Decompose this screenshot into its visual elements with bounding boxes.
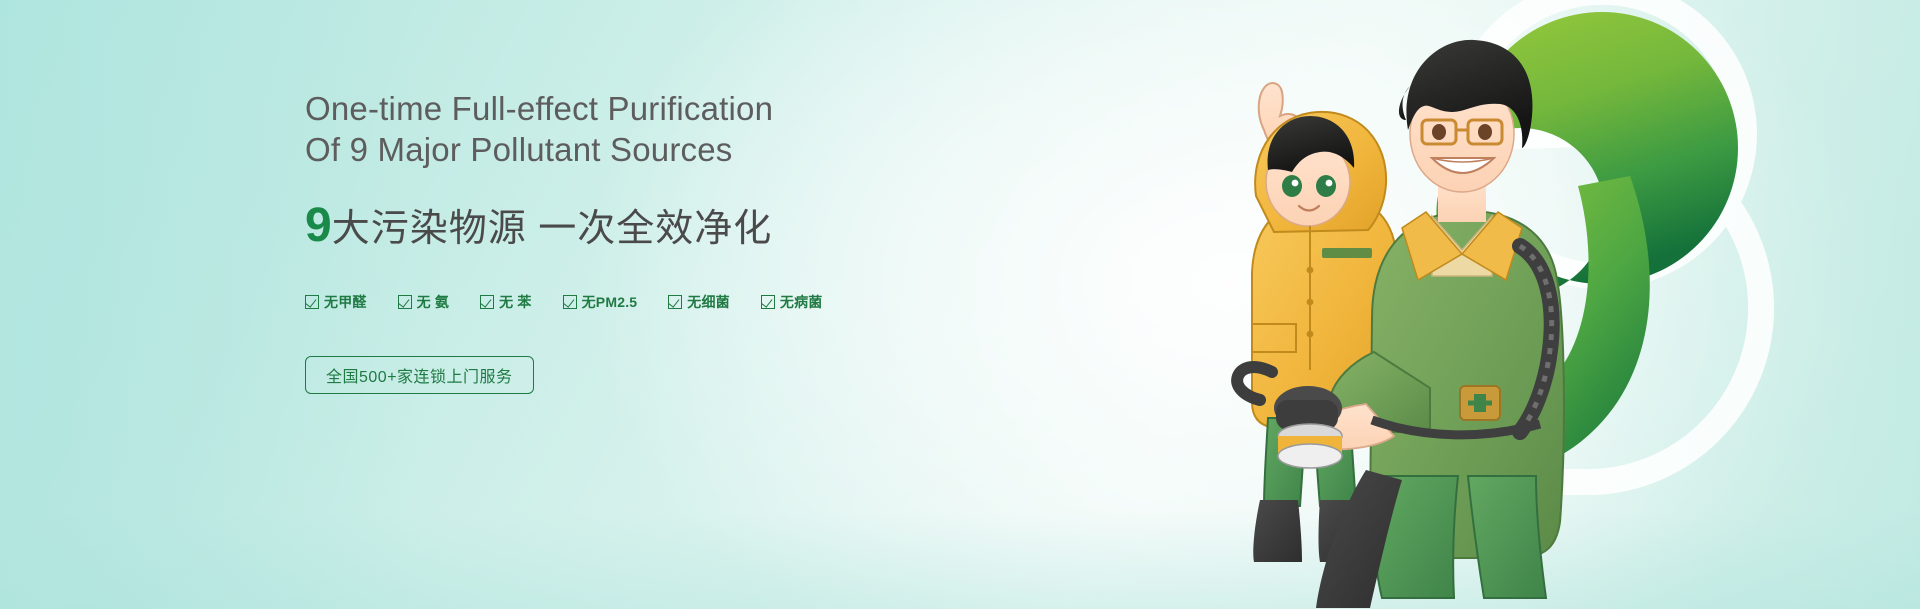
- feature-label: 无 氨: [417, 292, 450, 312]
- promo-banner: One-time Full-effect Purification Of 9 M…: [0, 0, 1920, 609]
- feature-item: 无细菌: [668, 292, 730, 312]
- checkbox-check-icon: [668, 295, 682, 309]
- nationwide-service-button[interactable]: 全国500+家连锁上门服务: [305, 356, 534, 394]
- headline-chinese-text: 大污染物源 一次全效净化: [332, 210, 773, 248]
- title-english-line2: Of 9 Major Pollutant Sources: [305, 129, 965, 170]
- checkbox-check-icon: [480, 295, 494, 309]
- feature-label: 无 苯: [499, 292, 532, 312]
- title-english-line1: One-time Full-effect Purification: [305, 88, 965, 129]
- checkbox-check-icon: [563, 295, 577, 309]
- feature-item: 无PM2.5: [563, 292, 638, 312]
- feature-list: 无甲醛 无 氨 无 苯 无PM2.5 无细菌 无病菌: [305, 292, 965, 312]
- headline-number: 9: [305, 202, 332, 250]
- headline-chinese: 9 大污染物源 一次全效净化: [305, 202, 965, 250]
- checkbox-check-icon: [398, 295, 412, 309]
- feature-item: 无病菌: [761, 292, 823, 312]
- feature-item: 无甲醛: [305, 292, 367, 312]
- checkbox-check-icon: [305, 295, 319, 309]
- checkbox-check-icon: [761, 295, 775, 309]
- feature-item: 无 氨: [398, 292, 450, 312]
- hero-illustration: [1160, 0, 1920, 609]
- feature-label: 无病菌: [780, 292, 823, 312]
- feature-label: 无细菌: [687, 292, 730, 312]
- feature-label: 无PM2.5: [582, 292, 638, 312]
- feature-item: 无 苯: [480, 292, 532, 312]
- feature-label: 无甲醛: [324, 292, 367, 312]
- banner-copy: One-time Full-effect Purification Of 9 M…: [305, 88, 965, 394]
